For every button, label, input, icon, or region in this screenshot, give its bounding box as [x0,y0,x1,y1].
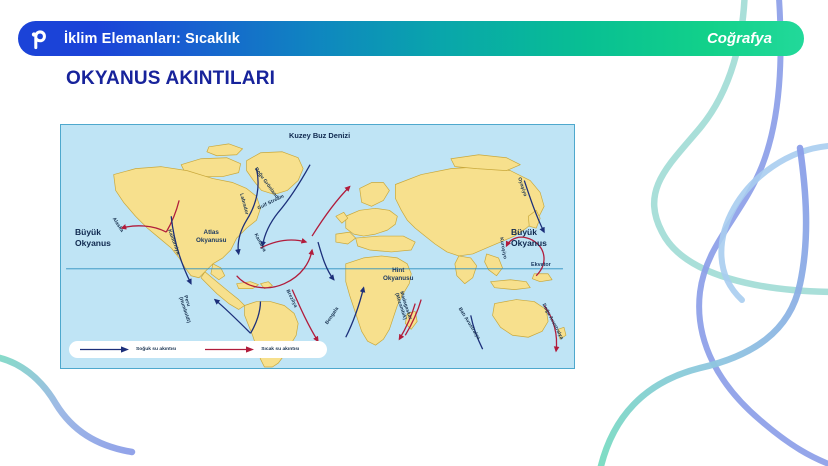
pacific-west-line2: Okyanus [75,238,111,248]
pacific-east-line2: Okyanus [511,238,547,248]
legend-item-cold: Soğuk su akıntısı [79,345,176,354]
cold-current-arrow-icon [79,345,131,354]
indian-line1: Hint [392,267,404,274]
header-bar: İklim Elemanları: Sıcaklık Coğrafya [18,21,804,56]
ocean-currents-map: Kuzey Buz Denizi Büyük Okyanus Büyük Oky… [60,124,575,369]
atlantic-line2: Okyanusu [196,237,226,244]
map-label-atlantic: Atlas Okyanusu [196,229,226,245]
map-label-equator: Ekvator [531,262,551,268]
decor-curve-bottom-right [600,148,806,466]
map-label-arctic-ocean: Kuzey Buz Denizi [289,131,350,140]
map-legend: Soğuk su akıntısı Sıcak su akıntısı [69,341,327,358]
pacific-east-line1: Büyük [511,227,537,237]
header-subject-label: Coğrafya [707,30,772,47]
decor-curve-midright-sky [721,146,828,300]
map-label-pacific-west: Büyük Okyanus [75,227,111,248]
decor-curve-bottom-left [0,356,132,452]
atlantic-line1: Atlas [204,229,219,236]
decor-curve-right-periwinkle [699,0,828,466]
map-label-indian: Hint Okyanusu [383,267,413,283]
indian-line2: Okyanusu [383,275,413,282]
page-title: OKYANUS AKINTILARI [66,68,275,90]
slide-root: İklim Elemanları: Sıcaklık Coğrafya OKYA… [0,0,828,466]
header-title: İklim Elemanları: Sıcaklık [64,31,240,47]
legend-label-cold: Soğuk su akıntısı [136,347,176,352]
warm-current-arrow-icon [204,345,256,354]
p-logo-icon [26,27,50,51]
pacific-west-line1: Büyük [75,227,101,237]
map-label-pacific-east: Büyük Okyanus [511,227,547,248]
world-map-graphic [61,125,574,368]
legend-item-warm: Sıcak su akıntısı [204,345,299,354]
legend-label-warm: Sıcak su akıntısı [261,347,299,352]
